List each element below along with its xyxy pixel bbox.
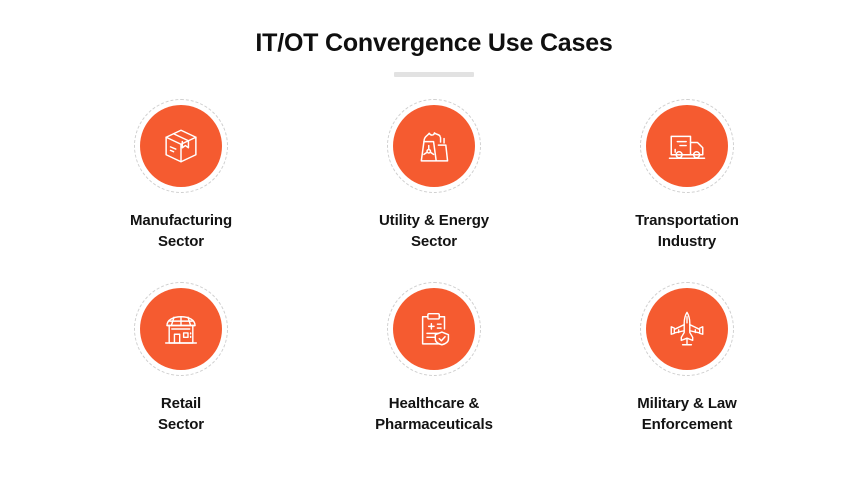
icon-circle: [140, 105, 222, 187]
icon-ring: [640, 99, 734, 193]
use-case-card-healthcare[interactable]: Healthcare & Pharmaceuticals: [308, 282, 561, 435]
use-case-label: Utility & Energy Sector: [379, 210, 489, 252]
use-case-grid: Manufacturing Sector: [0, 99, 868, 435]
title-divider: [394, 72, 474, 77]
package-box-icon: [160, 125, 202, 167]
use-case-label: Healthcare & Pharmaceuticals: [375, 393, 493, 435]
use-case-card-transportation[interactable]: Transportation Industry: [561, 99, 814, 252]
icon-ring: [640, 282, 734, 376]
use-case-card-retail[interactable]: Retail Sector: [55, 282, 308, 435]
slide-header: IT/OT Convergence Use Cases: [0, 0, 868, 77]
icon-circle: [646, 288, 728, 370]
icon-circle: [393, 105, 475, 187]
use-case-row-1: Manufacturing Sector: [0, 99, 868, 252]
fighter-jet-icon: [666, 308, 708, 350]
icon-ring: [387, 99, 481, 193]
use-case-label: Retail Sector: [158, 393, 204, 435]
icon-circle: [646, 105, 728, 187]
power-plant-icon: [413, 125, 455, 167]
use-case-row-2: Retail Sector: [0, 282, 868, 435]
slide-canvas: IT/OT Convergence Use Cases: [0, 0, 868, 488]
use-case-card-utility-energy[interactable]: Utility & Energy Sector: [308, 99, 561, 252]
delivery-truck-icon: [666, 125, 708, 167]
storefront-icon: [160, 308, 202, 350]
use-case-label: Transportation Industry: [635, 210, 739, 252]
use-case-label: Military & Law Enforcement: [637, 393, 736, 435]
medical-clipboard-icon: [413, 308, 455, 350]
icon-circle: [393, 288, 475, 370]
use-case-label: Manufacturing Sector: [130, 210, 232, 252]
use-case-card-military[interactable]: Military & Law Enforcement: [561, 282, 814, 435]
use-case-card-manufacturing[interactable]: Manufacturing Sector: [55, 99, 308, 252]
page-title: IT/OT Convergence Use Cases: [0, 26, 868, 60]
icon-ring: [134, 99, 228, 193]
icon-ring: [134, 282, 228, 376]
icon-ring: [387, 282, 481, 376]
icon-circle: [140, 288, 222, 370]
